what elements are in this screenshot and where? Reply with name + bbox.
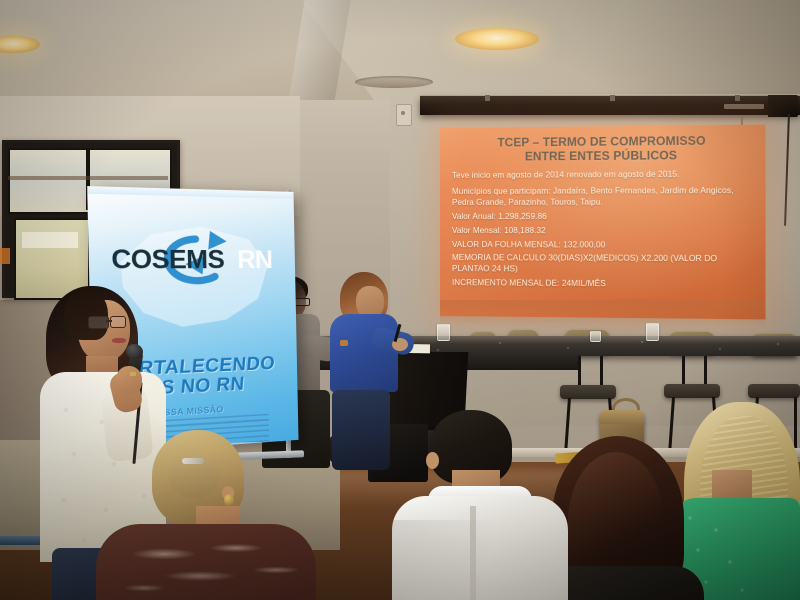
housing-bracket [735,95,740,101]
earring [224,494,234,506]
water-glass [646,323,659,341]
chair-leg [704,356,707,386]
audience-man-ear [426,452,439,469]
slide-paragraph-annual-value: Valor Anual: 1.298,259.86 [452,211,754,222]
chair-seat [748,384,800,398]
speaker-hand [116,366,142,394]
slide-paragraph-payroll-value: VALOR DA FOLHA MENSAL: 132.000,00 [452,240,754,251]
chair-leg [794,397,797,453]
slide-paragraph-municipalities: Municípios que participam: Jandaíra, Ben… [452,186,754,208]
ceiling-light-icon [455,28,539,50]
slide-paragraph-monthly-value: Valor Mensal: 108,188.32 [452,226,754,237]
slide-title: TCEP – TERMO DE COMPROMISSO ENTRE ENTES … [452,134,754,166]
water-glass [590,331,601,342]
eyeglasses-bridge [106,320,112,322]
housing-bracket [610,95,615,101]
water-glass [437,324,450,341]
eyeglasses [88,316,109,329]
slide-title-line-2: ENTRE ENTES PÚBLICOS [452,149,754,166]
ceiling-vent [355,76,433,88]
photograph-scene: TCEP – TERMO DE COMPROMISSO ENTRE ENTES … [0,0,800,600]
chair-seat [664,384,720,398]
brown-white-pattern [104,532,308,600]
ceiling-soffit [300,0,800,108]
cosems-circular-arrow-icon: COSEMS RN [102,225,288,292]
banner-logo-primary: COSEMS [111,245,225,274]
handbag-flap [600,410,644,424]
screen-lower-glow [440,300,766,327]
eyeglasses [110,316,126,328]
slide-content: TCEP – TERMO DE COMPROMISSO ENTRE ENTES … [440,125,766,291]
slide-paragraph-monthly-increment: INCREMENTO MENSAL DE: 24MIL/MÊS [452,278,754,291]
shirt-shadow [392,520,568,600]
speaker-lips [112,338,126,343]
window-sill [8,176,168,180]
chair-seat [560,385,616,399]
chair-leg [682,356,685,386]
housing-label [724,104,764,109]
speaker-hair-front [64,288,108,340]
housing-bracket [485,95,490,101]
chair-leg [600,356,603,388]
banner-logo-secondary: RN [237,246,273,274]
wall-outlet-screw [401,111,405,115]
ring [130,372,136,376]
slide-paragraph-start-date: Teve inicio em agosto de 2014 renovado e… [452,169,754,181]
chair-leg [578,356,581,388]
projected-slide: TCEP – TERMO DE COMPROMISSO ENTRE ENTES … [440,125,766,320]
wall-outlet [396,104,412,126]
seated-woman-torso [330,314,398,392]
window-poster [22,232,78,248]
housing-endcap [768,95,798,117]
hair-tie [182,458,204,464]
window-object [0,248,10,264]
wristwatch [340,340,348,346]
seated-woman-legs [332,390,390,470]
slide-paragraph-calculation-memo: MEMORIA DE CALCULO 30(DIAS)X2(MEDICOS) X… [452,253,754,276]
